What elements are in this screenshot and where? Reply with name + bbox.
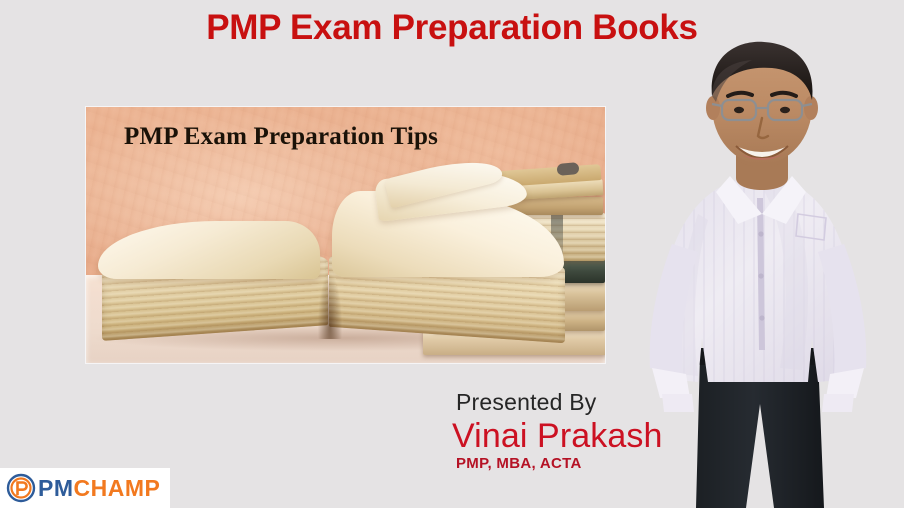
open-book-spine (318, 275, 342, 339)
presenter-eye-right (780, 107, 790, 113)
presenter-left-hand (662, 394, 694, 412)
pmchamp-logo[interactable]: PMCHAMP (0, 468, 170, 508)
presenter-ear-left (706, 96, 720, 120)
logo-text-champ: CHAMP (74, 475, 161, 501)
presenter-button (759, 315, 764, 320)
presenter-right-hand (822, 394, 854, 412)
photo-caption: PMP Exam Preparation Tips (124, 123, 438, 151)
presenter-photo (612, 38, 904, 508)
presentation-slide: PMP Exam Preparation Books (0, 0, 904, 508)
presenter-credentials: PMP, MBA, ACTA (456, 455, 582, 472)
presenter-button (758, 273, 763, 278)
circled-p-icon (6, 473, 36, 503)
book-photo-image: PMP Exam Preparation Tips (86, 107, 605, 363)
presenter-ear-right (804, 96, 818, 120)
presenter-button (758, 231, 763, 236)
presented-by-label: Presented By (456, 389, 596, 416)
logo-wordmark: PMCHAMP (38, 477, 160, 500)
logo-text-pm: PM (38, 475, 74, 501)
presenter-eye-left (734, 107, 744, 113)
